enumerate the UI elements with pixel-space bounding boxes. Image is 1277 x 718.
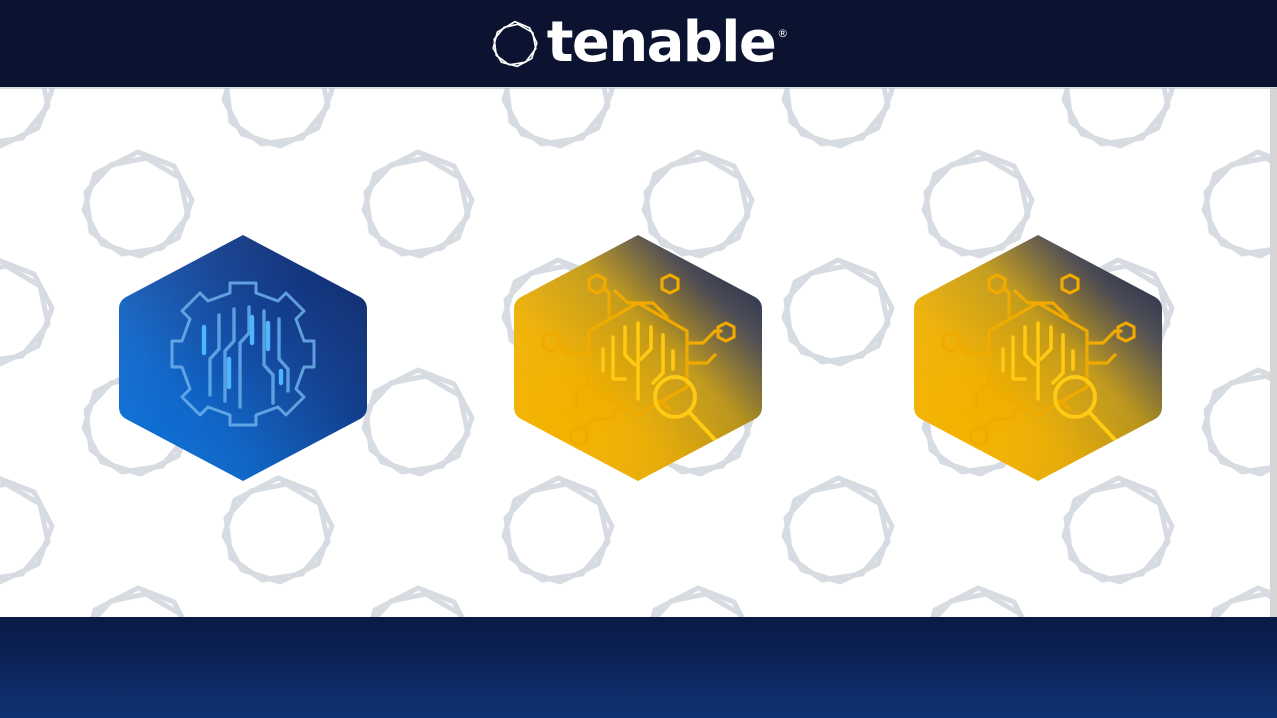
badge-row bbox=[0, 88, 1270, 617]
scrollbar-track[interactable] bbox=[1270, 88, 1277, 617]
gear-circuit-badge[interactable] bbox=[112, 231, 374, 485]
page-footer bbox=[0, 617, 1277, 718]
circuit-nodes-search-badge[interactable] bbox=[907, 231, 1169, 485]
registered-trademark-mark: ® bbox=[777, 28, 788, 39]
circuit-nodes-magnifier-icon bbox=[907, 231, 1169, 485]
tenable-wordmark-wrap: tenable ® bbox=[547, 18, 788, 68]
gear-circuit-icon bbox=[112, 231, 374, 485]
circuit-nodes-search-badge[interactable] bbox=[507, 231, 769, 485]
tenable-hexagon-logo-icon bbox=[489, 18, 541, 70]
app-header: tenable ® bbox=[0, 0, 1277, 87]
content-stage bbox=[0, 88, 1270, 617]
circuit-nodes-magnifier-icon bbox=[507, 231, 769, 485]
header-divider bbox=[0, 87, 1277, 89]
page-root: tenable ® bbox=[0, 0, 1277, 718]
tenable-wordmark: tenable bbox=[547, 18, 775, 68]
tenable-logo-lockup[interactable]: tenable ® bbox=[489, 15, 788, 73]
